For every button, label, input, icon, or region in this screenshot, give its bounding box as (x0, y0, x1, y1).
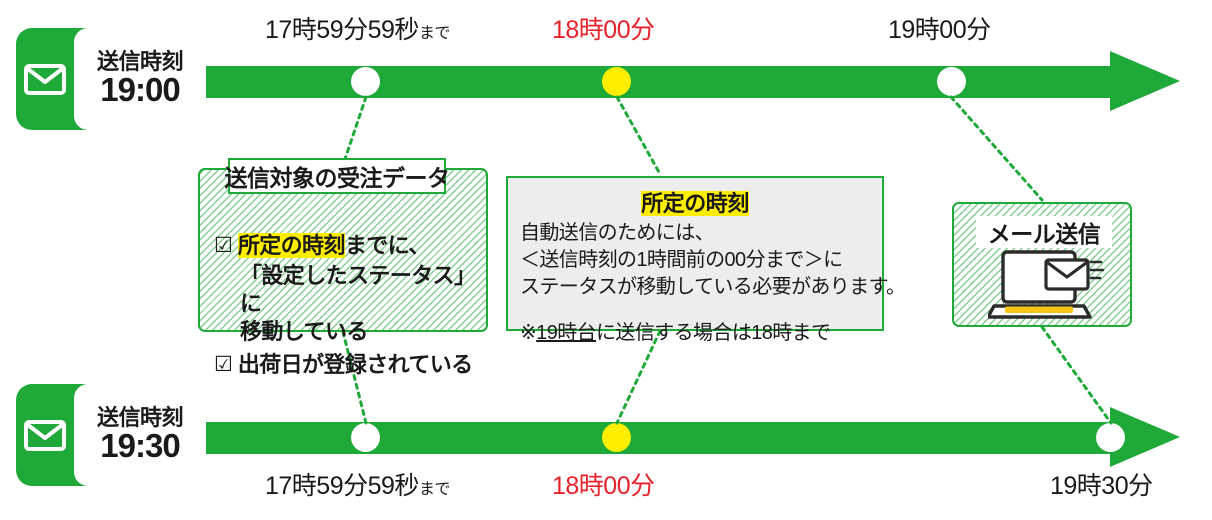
send-time-badge-bottom: 送信時刻 19:30 (16, 384, 206, 486)
note-box-line-2: ＜送信時刻の1時間前の00分まで＞に (520, 247, 870, 274)
checklist-item-1-highlight: 所定の時刻 (238, 233, 345, 258)
laptop-mail-icon (988, 248, 1106, 329)
send-time-label-top: 送信時刻 (97, 50, 183, 73)
diagram-canvas: 送信時刻 19:00 17時59分59秒まで 18時00分 19時00分 送信時… (0, 0, 1212, 520)
checklist-item-1-line3: 移動している (240, 318, 486, 346)
checklist-item-1-text: 所定の時刻までに、 (238, 232, 430, 260)
envelope-icon (16, 64, 74, 95)
note-box: 所定の時刻 自動送信のためには、 ＜送信時刻の1時間前の00分まで＞に ステータ… (506, 176, 884, 331)
note-box-footnote: ※19時台に送信する場合は18時まで (520, 320, 870, 347)
checklist-item-1: ☑ 所定の時刻までに、 (214, 232, 486, 260)
mail-send-box: メール送信 (952, 202, 1132, 327)
note-box-line-3: ステータスが移動している必要があります。 (520, 274, 870, 301)
timeline-top-bar (180, 66, 1128, 98)
tick-label-top-3: 19時00分 (888, 10, 991, 46)
note-box-footnote-underline: 19時台 (536, 322, 596, 344)
target-data-box-title: 送信対象の受注データ (228, 158, 446, 194)
checkbox-checked-icon: ☑ (214, 351, 233, 378)
note-box-line-2-bold: ＜送信時刻の1時間前の00分まで＞ (520, 249, 823, 271)
envelope-icon (16, 420, 74, 451)
send-time-value-top: 19:00 (100, 73, 179, 108)
note-box-title-wrap: 所定の時刻 (520, 186, 870, 218)
note-box-title: 所定の時刻 (641, 191, 749, 216)
tick-label-top-2: 18時00分 (552, 10, 655, 46)
tick-label-bottom-3: 19時30分 (1050, 466, 1153, 502)
note-box-footnote-rest: に送信する場合は18時まで (596, 322, 830, 344)
send-time-panel-top: 送信時刻 19:00 (74, 28, 206, 130)
timeline-top-dot-2 (602, 67, 631, 96)
tick-label-top-1: 17時59分59秒まで (265, 10, 450, 46)
tick-label-bottom-2: 18時00分 (552, 466, 655, 502)
checklist-item-2-text: 出荷日が登録されている (238, 351, 473, 379)
timeline-bottom-dot-1 (351, 423, 380, 452)
timeline-top-dot-3 (937, 67, 966, 96)
timeline-bottom-bar (180, 422, 1128, 454)
send-time-value-bottom: 19:30 (100, 429, 179, 464)
timeline-bottom-dot-3 (1096, 423, 1125, 452)
note-box-line-1: 自動送信のためには、 (520, 220, 870, 247)
timeline-top (180, 51, 1200, 111)
timeline-bottom (180, 407, 1200, 467)
checklist-item-1-rest: までに、 (345, 233, 430, 258)
checkbox-checked-icon: ☑ (214, 232, 233, 259)
send-time-panel-bottom: 送信時刻 19:30 (74, 384, 206, 486)
note-box-footnote-mark: ※ (520, 322, 536, 344)
timeline-top-dot-1 (351, 67, 380, 96)
send-time-label-bottom: 送信時刻 (97, 406, 183, 429)
checklist-item-1-line2: 「設定したステータス」に (240, 262, 486, 318)
timeline-bottom-dot-2 (602, 423, 631, 452)
tick-label-bottom-1: 17時59分59秒まで (265, 466, 450, 502)
checklist-item-2: ☑ 出荷日が登録されている (214, 351, 486, 379)
send-time-badge-top: 送信時刻 19:00 (16, 28, 206, 130)
timeline-top-arrowhead (1110, 51, 1180, 111)
target-data-checklist: ☑ 所定の時刻までに、 「設定したステータス」に 移動している ☑ 出荷日が登録… (214, 232, 486, 381)
mail-send-box-title: メール送信 (976, 216, 1112, 248)
note-box-line-2-tail: に (823, 249, 842, 271)
